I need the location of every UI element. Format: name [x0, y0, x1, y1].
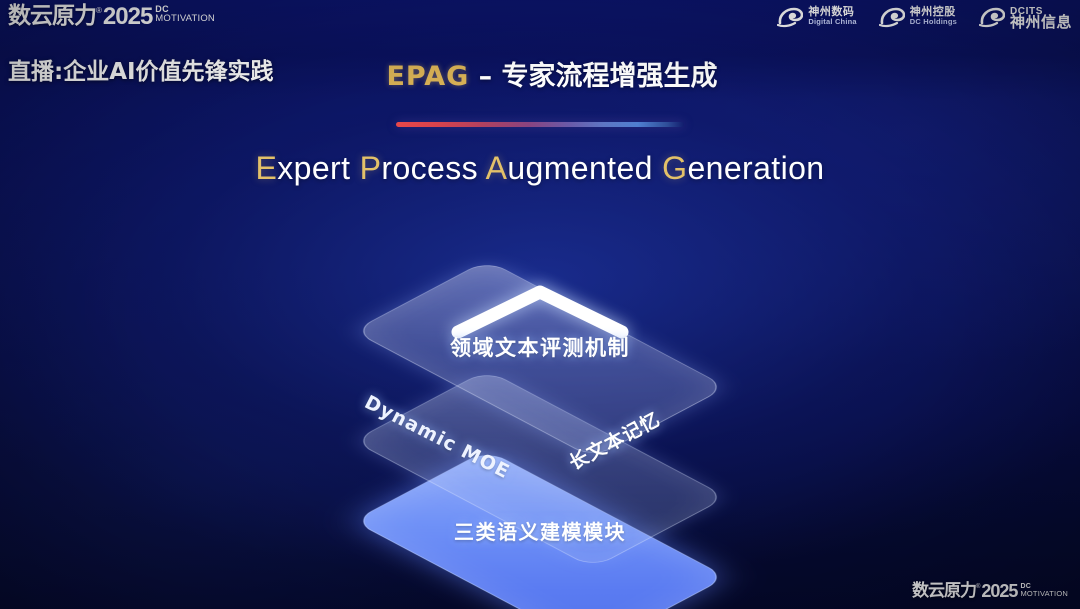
logo-en-digital-china: Digital China — [808, 17, 856, 27]
subtitle-cap-e: E — [255, 150, 277, 186]
logo-en-dc-holdings: DC Holdings — [910, 17, 957, 27]
layered-architecture-diagram: 领域文本评测机制 Dynamic MOE 长文本记忆 三类语义建模模块 — [290, 228, 790, 558]
gradient-divider — [396, 122, 684, 127]
slide-title-chinese: – 专家流程增强生成 — [469, 61, 717, 92]
watermark-registered-mark: ® — [976, 584, 980, 591]
subtitle-cap-g: G — [662, 150, 687, 186]
watermark-brand-logo: 数云原力 ® 2025 DC MOTIVATION — [912, 582, 1068, 601]
subtitle-word-augmented: ugmented — [507, 150, 662, 186]
brand-name-cn: 数云原力 — [8, 4, 96, 29]
slide-title: EPAG – 专家流程增强生成 — [0, 54, 1080, 93]
brand-year: 2025 — [103, 4, 152, 29]
logo-cn-dc-holdings: 神州控股 — [910, 7, 957, 17]
swirl-icon — [879, 6, 905, 28]
brand-dc-line2: MOTIVATION — [155, 14, 215, 23]
swirl-icon — [777, 6, 803, 28]
layer-label-top: 领域文本评测机制 — [290, 332, 790, 362]
header-bar: 数云原力 ® 2025 DC MOTIVATION 直播:企业AI价值先锋实践 … — [0, 0, 1080, 100]
logo-cn-dcits: 神州信息 — [1010, 17, 1072, 27]
slide-title-acronym: EPAG — [386, 61, 469, 92]
event-brand-logo: 数云原力 ® 2025 DC MOTIVATION — [8, 4, 215, 29]
subtitle-expert-process-augmented-generation: Expert Process Augmented Generation — [0, 150, 1080, 187]
slide-canvas: 数云原力 ® 2025 DC MOTIVATION 直播:企业AI价值先锋实践 … — [0, 0, 1080, 609]
watermark-dc-motivation: DC MOTIVATION — [1020, 583, 1068, 597]
logo-dc-holdings: 神州控股 DC Holdings — [879, 6, 957, 28]
swirl-icon — [979, 6, 1005, 28]
logo-text-dc-holdings: 神州控股 DC Holdings — [910, 7, 957, 27]
watermark-name-cn: 数云原力 — [912, 582, 976, 601]
layer-label-bottom: 三类语义建模模块 — [290, 516, 790, 545]
subtitle-cap-a: A — [486, 150, 508, 186]
watermark-dc-line2: MOTIVATION — [1020, 590, 1068, 597]
corporate-logo-group: 神州数码 Digital China 神州控股 DC Holdings — [777, 6, 1072, 28]
logo-digital-china: 神州数码 Digital China — [777, 6, 856, 28]
subtitle-word-generation: eneration — [687, 150, 824, 186]
brand-registered-mark: ® — [96, 6, 102, 16]
logo-dcits: DCITS 神州信息 — [979, 6, 1072, 28]
watermark-year: 2025 — [981, 582, 1017, 601]
subtitle-word-expert: xpert — [277, 150, 359, 186]
logo-cn-digital-china: 神州数码 — [808, 7, 856, 17]
subtitle-cap-p: P — [360, 150, 382, 186]
brand-dc-motivation: DC MOTIVATION — [155, 5, 215, 23]
subtitle-word-process: rocess — [381, 150, 485, 186]
logo-text-dcits: DCITS 神州信息 — [1010, 7, 1072, 27]
logo-text-digital-china: 神州数码 Digital China — [808, 7, 856, 27]
